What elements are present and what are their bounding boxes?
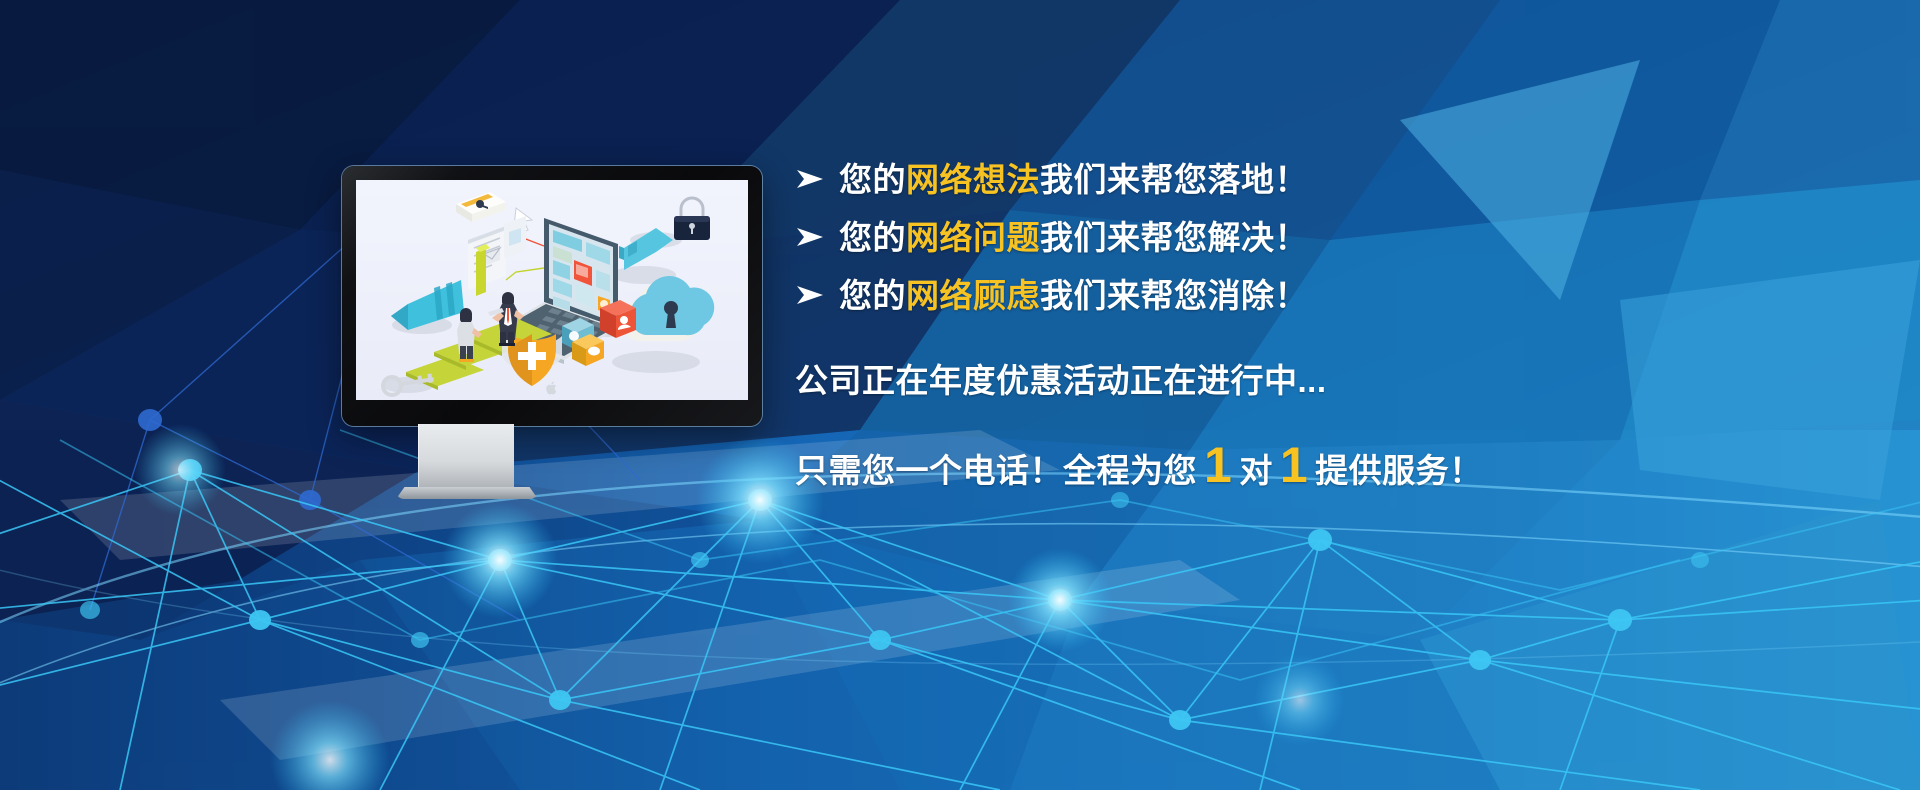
hero-banner: 您的网络想法我们来帮您落地！ 您的网络问题我们来帮您解决！ 您的网络顾虑我们来帮… <box>0 0 1920 790</box>
arrow-bullet-icon <box>795 168 839 190</box>
promo-line: 公司正在年度优惠活动正在进行中... <box>795 354 1795 402</box>
monitor-screen <box>356 180 748 400</box>
bullet-text-3: 您的网络顾虑我们来帮您消除！ <box>839 279 1308 312</box>
arrow-bullet-icon <box>795 226 839 248</box>
cta-line: 只需您一个电话！全程为您 1 对 1 提供服务！ <box>795 440 1795 492</box>
bullet-row-2: 您的网络问题我们来帮您解决！ <box>795 208 1795 266</box>
bullet-1-lead: 您的 <box>839 161 906 198</box>
arrow-bullet-icon <box>795 284 839 306</box>
cta-part2: 提供服务！ <box>1315 444 1483 492</box>
bullet-text-1: 您的网络想法我们来帮您落地！ <box>839 163 1308 196</box>
banner-copy: 您的网络想法我们来帮您落地！ 您的网络问题我们来帮您解决！ 您的网络顾虑我们来帮… <box>795 150 1795 492</box>
bullet-row-3: 您的网络顾虑我们来帮您消除！ <box>795 266 1795 324</box>
monitor-stand-neck <box>418 424 514 492</box>
cta-number-1: 1 <box>1197 440 1239 490</box>
bullet-1-highlight: 网络想法 <box>906 161 1040 198</box>
bullet-3-tail: 我们来帮您消除！ <box>1040 277 1308 314</box>
cta-middle: 对 <box>1239 444 1273 492</box>
apple-logo-icon <box>546 381 558 395</box>
bullet-3-highlight: 网络顾虑 <box>906 277 1040 314</box>
cta-number-2: 1 <box>1273 440 1315 490</box>
bullet-3-lead: 您的 <box>839 277 906 314</box>
bullet-1-tail: 我们来帮您落地！ <box>1040 161 1308 198</box>
bullet-row-1: 您的网络想法我们来帮您落地！ <box>795 150 1795 208</box>
monitor-stand-base <box>396 487 538 499</box>
bullet-2-lead: 您的 <box>839 219 906 256</box>
bullet-text-2: 您的网络问题我们来帮您解决！ <box>839 221 1308 254</box>
cta-part1: 只需您一个电话！全程为您 <box>795 444 1197 492</box>
isometric-illustration <box>356 180 748 400</box>
bullet-2-tail: 我们来帮您解决！ <box>1040 219 1308 256</box>
bullet-2-highlight: 网络问题 <box>906 219 1040 256</box>
monitor-display <box>342 166 762 426</box>
